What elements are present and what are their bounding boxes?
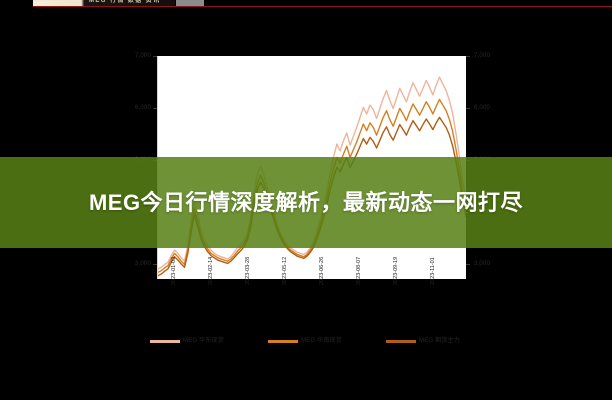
y-axis-left-tick-0: 7,000 xyxy=(117,53,151,60)
site-header: ChemNet MEG 行情 数据 资讯 xyxy=(0,0,612,7)
article-title: MEG今日行情深度解析，最新动态一网打尽 xyxy=(36,186,576,220)
y-axis-left-tick-4: 3,000 xyxy=(117,261,151,268)
legend-swatch-icon-0 xyxy=(150,340,180,343)
legend-item-0[interactable]: MEG 华东现货 xyxy=(150,335,224,347)
x-axis-tick-7: 2023-11-01 xyxy=(430,257,436,285)
legend-swatch-icon-2 xyxy=(386,340,416,343)
legend-label-0: MEG 华东现货 xyxy=(183,337,224,345)
x-axis-tick-6: 2023-09-19 xyxy=(393,257,399,285)
y-axis-right-tick-mark-1 xyxy=(466,108,470,109)
legend-swatch-icon-1 xyxy=(268,340,298,343)
chart-legend: MEG 华东现货 MEG 华南现货 MEG 期货主力 xyxy=(150,335,480,347)
legend-item-2[interactable]: MEG 期货主力 xyxy=(386,335,460,347)
x-axis-tick-0: 2023-01-03 xyxy=(171,257,177,285)
y-axis-right-tick-0: 7,000 xyxy=(474,53,508,60)
y-axis-right-tick-mark-0 xyxy=(466,56,470,57)
x-axis-tick-3: 2023-05-12 xyxy=(282,257,288,285)
site-nav-text[interactable]: MEG 行情 数据 资讯 xyxy=(89,0,160,5)
legend-label-2: MEG 期货主力 xyxy=(419,337,460,345)
x-axis-tick-4: 2023-06-26 xyxy=(319,257,325,285)
y-axis-right-tick-4: 3,000 xyxy=(474,261,508,268)
y-axis-right-tick-1: 6,000 xyxy=(474,105,508,112)
article-title-banner: MEG今日行情深度解析，最新动态一网打尽 xyxy=(0,157,612,248)
y-axis-left-tick-1: 6,000 xyxy=(117,105,151,112)
legend-label-1: MEG 华南现货 xyxy=(301,337,342,345)
site-logo-text: ChemNet xyxy=(33,0,63,4)
x-axis-tick-5: 2023-08-07 xyxy=(356,257,362,285)
x-axis-tick-2: 2023-03-28 xyxy=(245,257,251,285)
y-axis-right-tick-mark-4 xyxy=(466,264,470,265)
x-axis-tick-1: 2023-02-14 xyxy=(208,257,214,285)
legend-item-1[interactable]: MEG 华南现货 xyxy=(268,335,342,347)
